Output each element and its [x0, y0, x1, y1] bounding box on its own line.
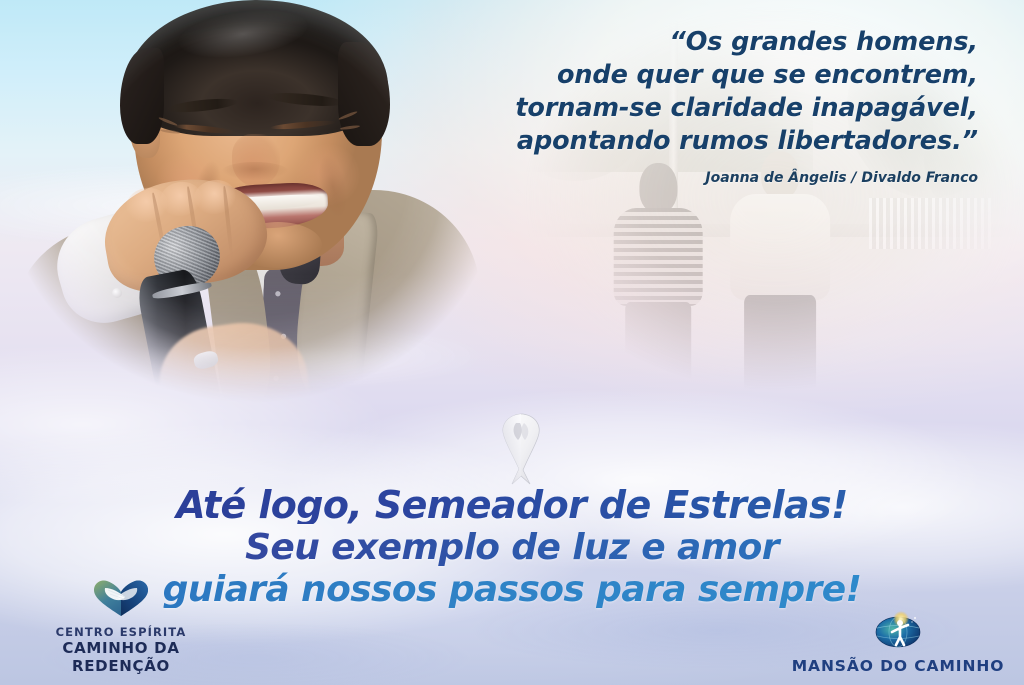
- quote-line-1: “Os grandes homens,: [438, 26, 978, 59]
- quote-line-2: onde quer que se encontrem,: [438, 59, 978, 92]
- headline-line-2: Seu exemplo de luz e amor: [0, 530, 1024, 566]
- logo-left-line-1: CENTRO ESPÍRITA: [16, 626, 226, 639]
- white-ribbon-icon: [490, 406, 554, 488]
- heart-hands-icon: [16, 579, 226, 623]
- logo-centro-espirita: CENTRO ESPÍRITA CAMINHO DA REDENÇÃO: [16, 579, 226, 675]
- headline-line-1: Até logo, Semeador de Estrelas!: [0, 486, 1024, 524]
- cuff-button: [112, 288, 122, 298]
- logo-left-line-2: CAMINHO DA REDENÇÃO: [16, 639, 226, 675]
- nose-shadow: [222, 162, 288, 180]
- photo-figure-white-shirt: [730, 151, 830, 392]
- quote-attribution: Joanna de Ângelis / Divaldo Franco: [438, 170, 978, 186]
- logo-right-line-2: MANSÃO DO CAMINHO: [786, 657, 1010, 675]
- logo-mansao-do-caminho: MANSÃO DO CAMINHO: [786, 610, 1010, 675]
- memorial-poster: “Os grandes homens, onde quer que se enc…: [0, 0, 1024, 685]
- quote-line-3: tornam-se claridade inapagável,: [438, 92, 978, 125]
- photo-fence: [869, 198, 991, 250]
- photo-figure-striped-shirt: [614, 163, 703, 387]
- globe-figure-torch-icon: [786, 610, 1010, 654]
- hair-sideburn-left: [120, 48, 164, 144]
- quote-line-4: apontando rumos libertadores.”: [438, 125, 978, 158]
- quote-block: “Os grandes homens, onde quer que se enc…: [438, 26, 978, 186]
- portrait-divaldo-franco: [8, 0, 478, 446]
- hair-sideburn-right: [338, 42, 390, 146]
